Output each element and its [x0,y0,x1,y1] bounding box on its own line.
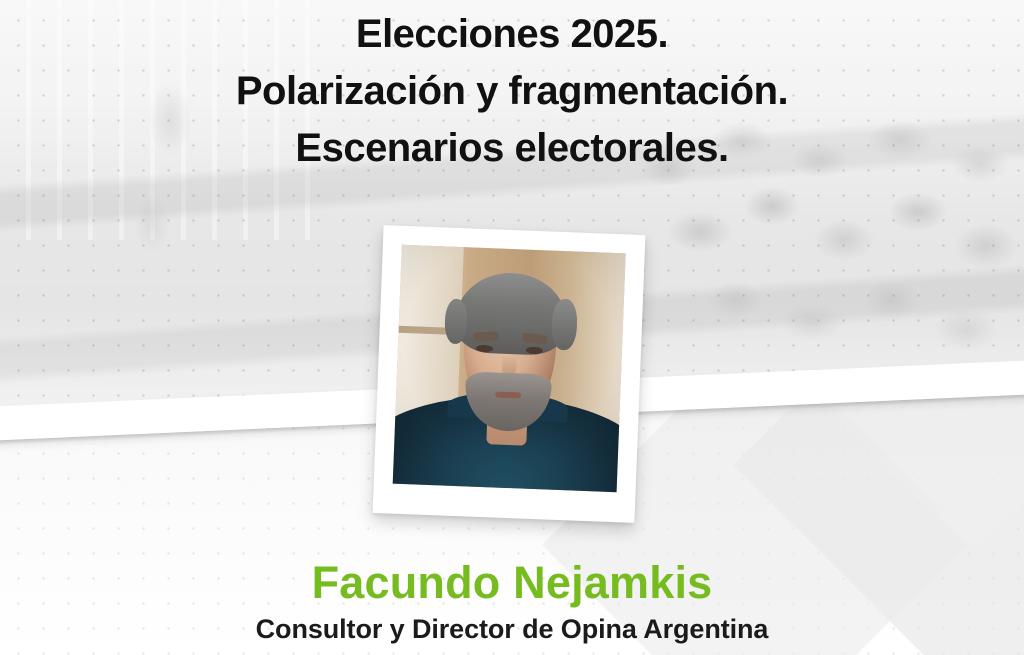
portrait-vignette [393,245,626,492]
title-line-2: Polarización y fragmentación. [0,63,1024,120]
title-line-3: Escenarios electorales. [0,120,1024,177]
speaker-name: Facundo Nejamkis [0,555,1024,611]
speaker-role: Consultor y Director de Opina Argentina [0,611,1024,647]
speaker-credit: Facundo Nejamkis Consultor y Director de… [0,555,1024,647]
page-title: Elecciones 2025. Polarización y fragment… [0,6,1024,177]
title-line-1: Elecciones 2025. [0,6,1024,63]
speaker-photo-frame [373,225,646,523]
presentation-slide: Elecciones 2025. Polarización y fragment… [0,0,1024,655]
speaker-portrait-image [393,245,626,492]
